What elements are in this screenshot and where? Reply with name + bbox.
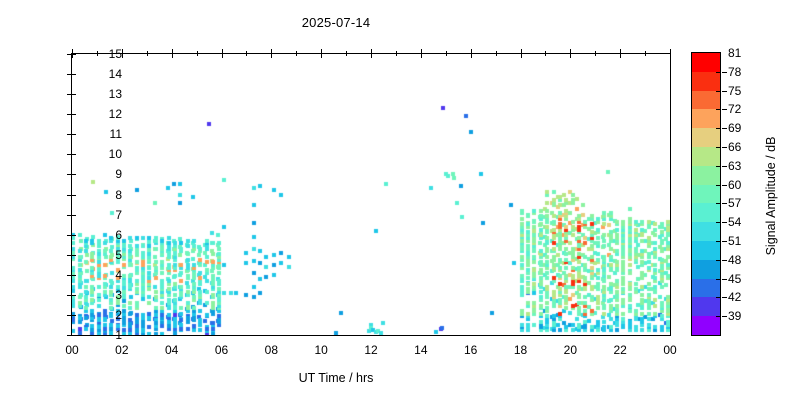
y-tick <box>72 195 76 196</box>
colorbar-tick <box>716 222 721 223</box>
x-tick-major <box>421 54 422 58</box>
y-tick-label: 12 <box>82 108 122 120</box>
colorbar-tick-label: 81 <box>728 47 758 59</box>
y-tick <box>72 315 76 316</box>
colorbar-tick-label: 69 <box>728 122 758 134</box>
y-tick <box>72 295 76 296</box>
x-tick-minor <box>296 54 297 56</box>
colorbar-segment <box>692 297 720 316</box>
colorbar-segment <box>692 203 720 222</box>
y-tick-label: 8 <box>82 189 122 201</box>
colorbar-tick <box>722 297 727 298</box>
colorbar-tick <box>716 316 721 317</box>
page-title: 2025-07-14 <box>0 15 672 30</box>
colorbar-tick-label: 63 <box>728 160 758 172</box>
x-tick-label: 14 <box>401 344 441 356</box>
y-tick-label: 9 <box>82 168 122 180</box>
colorbar <box>691 52 721 336</box>
x-tick-label: 08 <box>251 344 291 356</box>
x-tick-label: 02 <box>102 344 142 356</box>
y-tick-label: 4 <box>82 269 122 281</box>
y-tick-label: 10 <box>82 148 122 160</box>
colorbar-tick <box>722 260 727 261</box>
colorbar-segment <box>692 128 720 147</box>
x-tick-major <box>371 54 372 58</box>
y-tick-label: 2 <box>82 309 122 321</box>
y-tick-label: 14 <box>82 68 122 80</box>
colorbar-tick-label: 60 <box>728 179 758 191</box>
colorbar-segment <box>692 222 720 241</box>
colorbar-tick <box>722 222 727 223</box>
colorbar-tick <box>722 241 727 242</box>
y-tick-label: 13 <box>82 88 122 100</box>
y-tick <box>72 94 76 95</box>
x-tick-major <box>172 54 173 58</box>
x-tick-major <box>222 54 223 58</box>
x-tick-major <box>620 54 621 58</box>
colorbar-tick-label: 51 <box>728 235 758 247</box>
colorbar-tick <box>722 72 727 73</box>
y-tick-label: 11 <box>82 128 122 140</box>
x-tick-minor <box>246 54 247 56</box>
y-tick-label: 6 <box>82 229 122 241</box>
colorbar-segment <box>692 279 720 298</box>
x-tick-label: 12 <box>351 344 391 356</box>
colorbar-title: Signal Amplitude / dB <box>764 86 778 306</box>
y-tick <box>72 235 76 236</box>
y-tick-label: 5 <box>82 249 122 261</box>
x-tick-major <box>521 54 522 58</box>
colorbar-tick <box>716 147 721 148</box>
y-tick-label: 1 <box>82 329 122 341</box>
x-tick-label: 00 <box>52 344 92 356</box>
colorbar-segment <box>692 316 720 335</box>
colorbar-segment <box>692 72 720 91</box>
x-tick-minor <box>197 54 198 56</box>
y-tick <box>72 114 76 115</box>
colorbar-tick <box>716 128 721 129</box>
y-tick <box>72 335 76 336</box>
colorbar-segment <box>692 241 720 260</box>
colorbar-segment <box>692 185 720 204</box>
x-tick-major <box>271 54 272 58</box>
colorbar-tick <box>722 91 727 92</box>
colorbar-tick <box>716 166 721 167</box>
x-tick-label: 10 <box>301 344 341 356</box>
x-tick-minor <box>496 54 497 56</box>
scatter-canvas <box>72 54 670 335</box>
colorbar-tick-label: 78 <box>728 66 758 78</box>
colorbar-tick-label: 57 <box>728 197 758 209</box>
colorbar-tick-label: 54 <box>728 216 758 228</box>
x-tick-major <box>670 54 671 58</box>
y-tick-label: 7 <box>82 209 122 221</box>
x-tick-major <box>321 54 322 58</box>
colorbar-tick <box>722 316 727 317</box>
y-tick <box>72 134 76 135</box>
colorbar-segment <box>692 91 720 110</box>
y-tick <box>72 74 76 75</box>
x-tick-label: 00 <box>650 344 690 356</box>
colorbar-segment <box>692 53 720 72</box>
colorbar-tick <box>716 279 721 280</box>
colorbar-tick-label: 72 <box>728 103 758 115</box>
colorbar-tick <box>716 260 721 261</box>
colorbar-segment <box>692 166 720 185</box>
colorbar-tick <box>722 279 727 280</box>
x-tick-label: 06 <box>202 344 242 356</box>
x-tick-minor <box>346 54 347 56</box>
colorbar-tick-label: 66 <box>728 141 758 153</box>
x-tick-minor <box>545 54 546 56</box>
colorbar-tick <box>716 185 721 186</box>
y-tick <box>72 255 76 256</box>
plot-area <box>71 53 671 336</box>
colorbar-tick <box>716 91 721 92</box>
x-tick-minor <box>446 54 447 56</box>
x-tick-label: 18 <box>501 344 541 356</box>
x-tick-label: 16 <box>451 344 491 356</box>
colorbar-tick <box>722 109 727 110</box>
colorbar-segment <box>692 260 720 279</box>
colorbar-tick <box>722 128 727 129</box>
colorbar-tick <box>716 203 721 204</box>
y-tick <box>72 275 76 276</box>
colorbar-tick <box>716 297 721 298</box>
x-tick-major <box>471 54 472 58</box>
y-tick <box>72 154 76 155</box>
x-tick-label: 20 <box>550 344 590 356</box>
colorbar-tick-label: 42 <box>728 291 758 303</box>
x-tick-minor <box>396 54 397 56</box>
colorbar-segment <box>692 147 720 166</box>
x-axis-title: UT Time / hrs <box>0 371 672 385</box>
colorbar-tick-label: 39 <box>728 310 758 322</box>
colorbar-tick <box>716 109 721 110</box>
x-tick-minor <box>595 54 596 56</box>
y-tick-label: 15 <box>82 48 122 60</box>
colorbar-tick <box>716 72 721 73</box>
colorbar-tick <box>722 185 727 186</box>
x-tick-major <box>570 54 571 58</box>
colorbar-tick-label: 48 <box>728 254 758 266</box>
colorbar-tick <box>722 147 727 148</box>
x-tick-major <box>122 54 123 58</box>
y-tick-label: 3 <box>82 289 122 301</box>
y-tick <box>72 174 76 175</box>
colorbar-segment <box>692 109 720 128</box>
y-tick <box>72 215 76 216</box>
x-tick-major <box>72 54 73 58</box>
colorbar-tick-label: 45 <box>728 273 758 285</box>
x-tick-label: 22 <box>600 344 640 356</box>
colorbar-tick <box>722 203 727 204</box>
colorbar-tick <box>716 241 721 242</box>
x-tick-label: 04 <box>152 344 192 356</box>
x-tick-minor <box>645 54 646 56</box>
colorbar-tick <box>722 166 727 167</box>
x-tick-minor <box>147 54 148 56</box>
colorbar-tick-label: 75 <box>728 85 758 97</box>
